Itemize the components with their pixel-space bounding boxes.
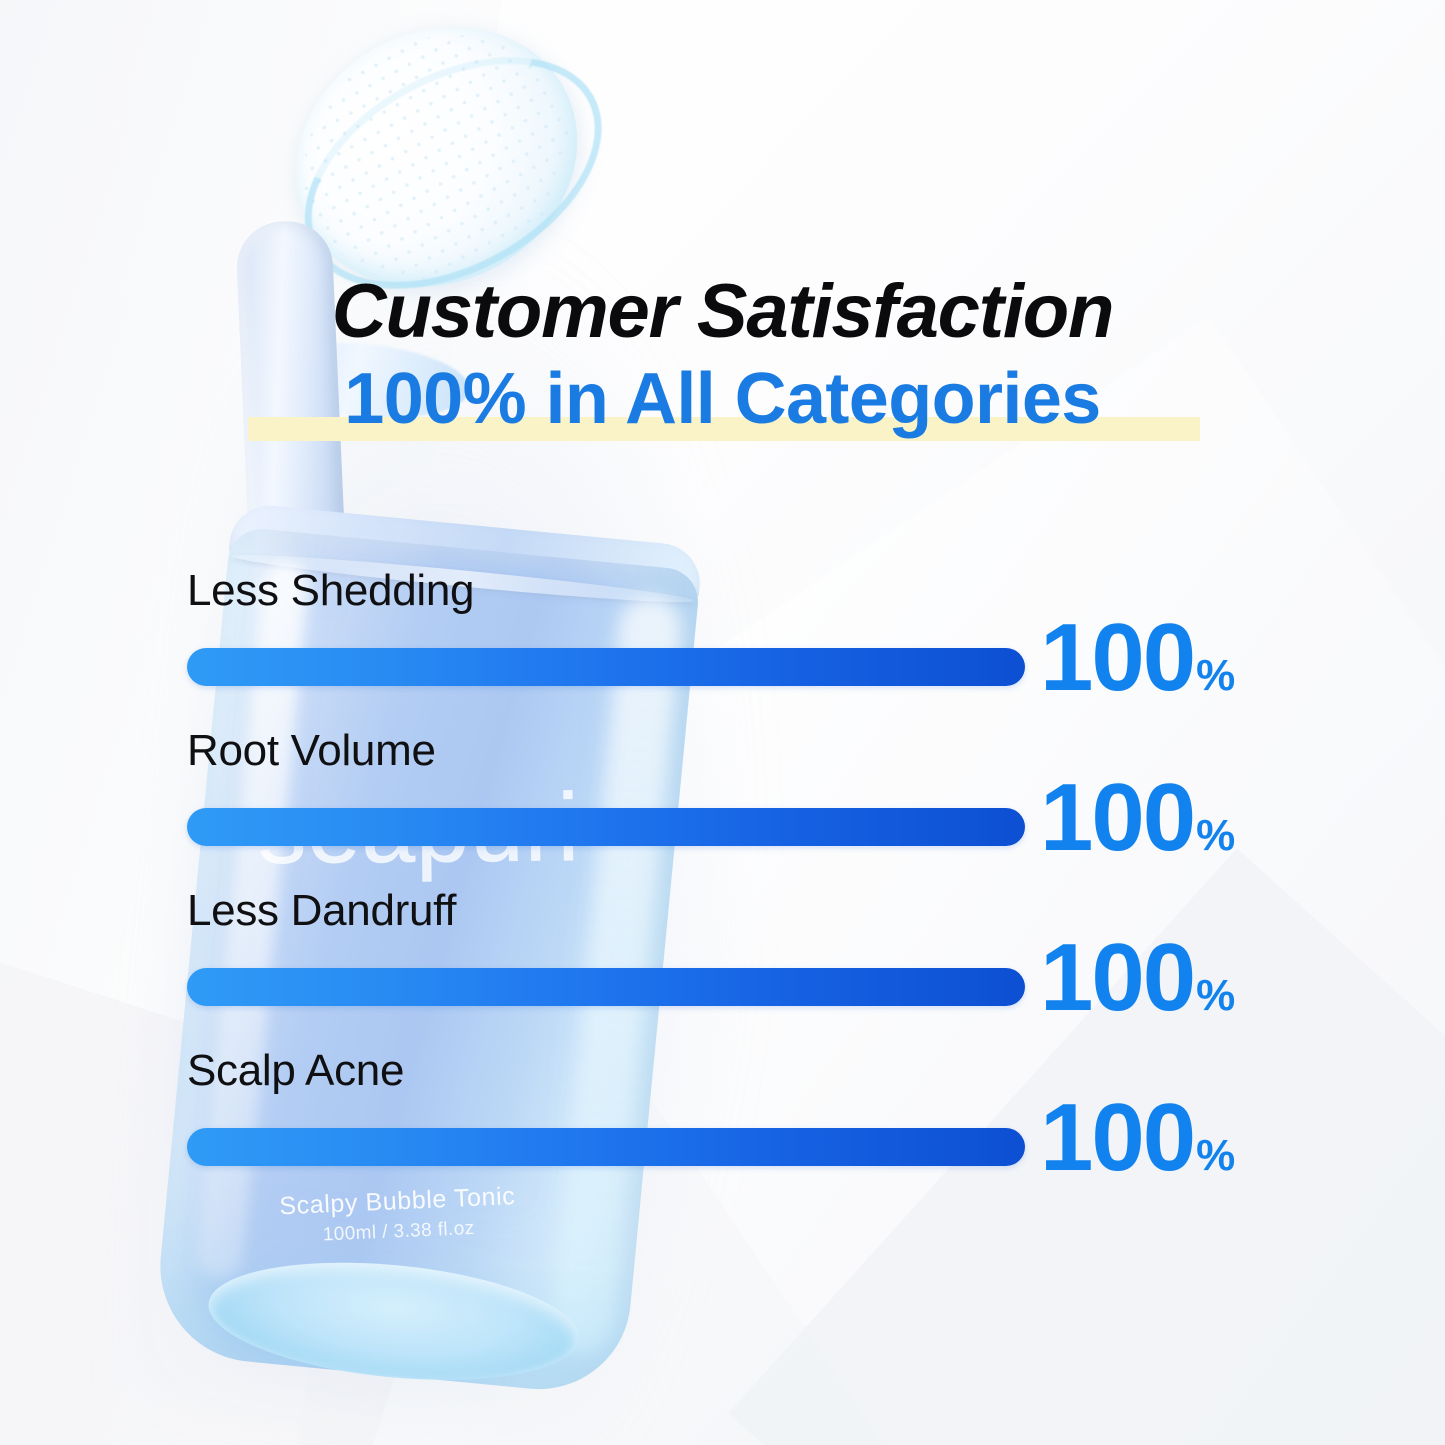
metric-label-less-dandruff: Less Dandruff — [187, 886, 456, 936]
metric-percent-sign: % — [1196, 1134, 1235, 1178]
metric-percent-sign: % — [1196, 654, 1235, 698]
metric-row: Less Dandruff 100 % — [0, 886, 1445, 1046]
metric-fill-less-dandruff — [187, 968, 1025, 1006]
metric-track-scalp-acne — [187, 1128, 1025, 1166]
metric-label-scalp-acne: Scalp Acne — [187, 1046, 404, 1096]
satisfaction-bar-chart: Less Shedding 100 % Root Volume 100 % Le… — [0, 566, 1445, 1206]
metric-track-root-volume — [187, 808, 1025, 846]
metric-value-root-volume: 100 % — [1040, 770, 1235, 866]
metric-number: 100 — [1040, 1090, 1194, 1186]
headline-block: Customer Satisfaction 100% in All Catego… — [0, 272, 1445, 437]
metric-percent-sign: % — [1196, 974, 1235, 1018]
metric-percent-sign: % — [1196, 814, 1235, 858]
metric-fill-less-shedding — [187, 648, 1025, 686]
metric-value-less-dandruff: 100 % — [1040, 930, 1235, 1026]
metric-value-scalp-acne: 100 % — [1040, 1090, 1235, 1186]
metric-row: Root Volume 100 % — [0, 726, 1445, 886]
headline-secondary: 100% in All Categories — [344, 361, 1100, 437]
metric-number: 100 — [1040, 770, 1194, 866]
metric-fill-scalp-acne — [187, 1128, 1025, 1166]
metric-number: 100 — [1040, 930, 1194, 1026]
headline-primary: Customer Satisfaction — [0, 272, 1445, 353]
metric-track-less-shedding — [187, 648, 1025, 686]
headline-secondary-wrap: 100% in All Categories — [0, 361, 1445, 437]
metric-value-less-shedding: 100 % — [1040, 610, 1235, 706]
metric-label-less-shedding: Less Shedding — [187, 566, 474, 616]
metric-row: Scalp Acne 100 % — [0, 1046, 1445, 1206]
metric-number: 100 — [1040, 610, 1194, 706]
metric-track-less-dandruff — [187, 968, 1025, 1006]
infographic-canvas: seapuri Scalpy Bubble Tonic 100ml / 3.38… — [0, 0, 1445, 1445]
metric-label-root-volume: Root Volume — [187, 726, 436, 776]
metric-fill-root-volume — [187, 808, 1025, 846]
metric-row: Less Shedding 100 % — [0, 566, 1445, 726]
